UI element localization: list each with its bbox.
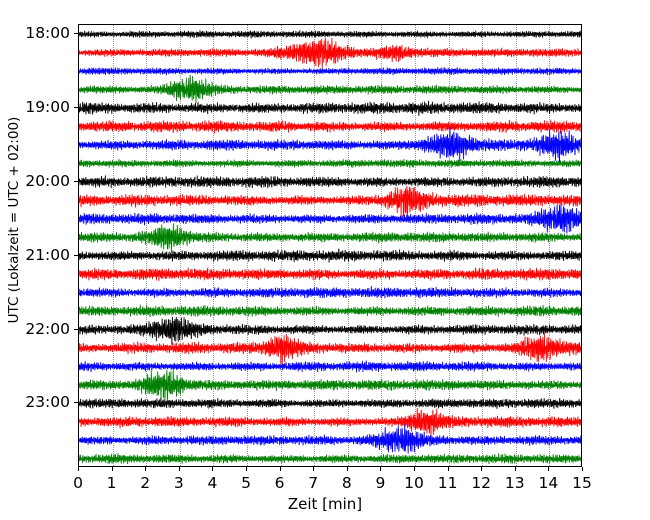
x-tick-label-12: 12 xyxy=(471,474,491,492)
trace-23-00 xyxy=(79,398,582,409)
trace-22-30 xyxy=(79,361,582,373)
trace-21-15 xyxy=(79,268,582,281)
trace-20-00 xyxy=(79,175,582,188)
trace-23-30 xyxy=(79,424,582,454)
trace-18-45 xyxy=(79,75,582,103)
y-tick-label-21-00: 21:00 xyxy=(25,246,70,264)
seismogram-figure: UTC (Lokalzeit = UTC + 02:00) 18:0019:00… xyxy=(0,0,650,520)
x-tick-label-8: 8 xyxy=(342,474,352,492)
trace-20-30 xyxy=(79,205,582,234)
x-axis-label: Zeit [min] xyxy=(0,495,650,513)
trace-20-45 xyxy=(79,223,582,253)
x-tick-mark-6 xyxy=(280,467,281,471)
x-tick-label-9: 9 xyxy=(375,474,385,492)
trace-18-15 xyxy=(79,38,582,70)
y-tick-label-20-00: 20:00 xyxy=(25,172,70,190)
x-tick-mark-9 xyxy=(380,467,381,471)
x-tick-mark-12 xyxy=(481,467,482,471)
x-tick-mark-4 xyxy=(212,467,213,471)
x-tick-mark-5 xyxy=(246,467,247,471)
x-tick-mark-13 xyxy=(515,467,516,471)
y-tick-label-23-00: 23:00 xyxy=(25,393,70,411)
x-tick-label-6: 6 xyxy=(275,474,285,492)
x-tick-label-1: 1 xyxy=(107,474,117,492)
x-tick-mark-15 xyxy=(582,467,583,471)
x-tick-mark-1 xyxy=(112,467,113,471)
trace-22-00 xyxy=(79,317,582,345)
trace-21-00 xyxy=(79,249,582,263)
trace-23-45 xyxy=(79,453,582,464)
x-tick-label-11: 11 xyxy=(438,474,458,492)
seismogram-traces xyxy=(79,25,582,467)
x-tick-mark-2 xyxy=(145,467,146,471)
x-tick-mark-11 xyxy=(448,467,449,471)
x-tick-label-13: 13 xyxy=(505,474,525,492)
trace-18-30 xyxy=(79,67,582,75)
x-tick-label-4: 4 xyxy=(207,474,217,492)
x-tick-mark-3 xyxy=(179,467,180,471)
x-tick-label-15: 15 xyxy=(572,474,592,492)
trace-22-15 xyxy=(79,332,582,364)
x-tick-label-7: 7 xyxy=(308,474,318,492)
x-tick-mark-7 xyxy=(313,467,314,471)
plot-area xyxy=(78,24,582,467)
trace-22-45 xyxy=(79,370,582,402)
trace-21-30 xyxy=(79,286,582,298)
y-tick-label-19-00: 19:00 xyxy=(25,98,70,116)
x-tick-label-10: 10 xyxy=(404,474,424,492)
trace-19-00 xyxy=(79,101,582,116)
trace-19-30 xyxy=(79,127,582,162)
x-tick-mark-14 xyxy=(548,467,549,471)
x-tick-label-2: 2 xyxy=(140,474,150,492)
trace-19-45 xyxy=(79,159,582,168)
x-tick-label-14: 14 xyxy=(539,474,559,492)
x-tick-mark-8 xyxy=(347,467,348,471)
x-tick-mark-10 xyxy=(414,467,415,471)
x-tick-label-5: 5 xyxy=(241,474,251,492)
y-axis-label: UTC (Lokalzeit = UTC + 02:00) xyxy=(4,20,24,420)
x-tick-mark-0 xyxy=(78,467,79,471)
trace-21-45 xyxy=(79,305,582,317)
trace-19-15 xyxy=(79,120,582,134)
x-tick-label-0: 0 xyxy=(73,474,83,492)
trace-23-15 xyxy=(79,408,582,436)
x-tick-label-3: 3 xyxy=(174,474,184,492)
y-tick-label-18-00: 18:00 xyxy=(25,24,70,42)
y-tick-label-22-00: 22:00 xyxy=(25,320,70,338)
trace-18-00 xyxy=(79,30,582,38)
